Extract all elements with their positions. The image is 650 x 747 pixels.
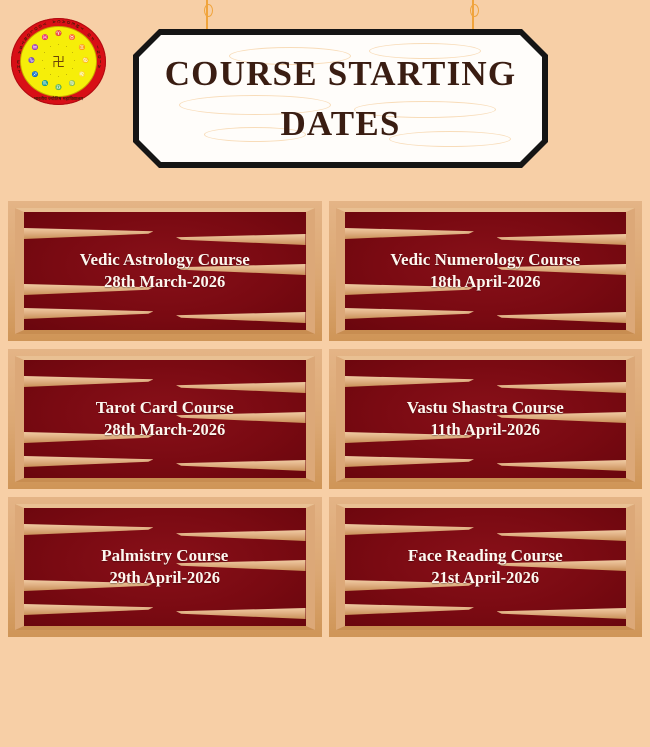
plank-wedge-left xyxy=(345,308,474,319)
chart-tick-icon: · xyxy=(71,58,78,65)
course-card-face: Tarot Card Course 28th March-2026 xyxy=(24,360,306,478)
course-date: 28th March-2026 xyxy=(104,272,225,293)
course-card-frame: Face Reading Course 21st April-2026 xyxy=(336,504,636,630)
plank-wedge-right xyxy=(176,312,305,323)
logo-ring-char xyxy=(46,20,51,22)
course-card[interactable]: Vastu Shastra Course 11th April-2026 xyxy=(329,349,643,489)
course-card-grid: Vedic Astrology Course 28th March-2026 V… xyxy=(8,201,642,645)
course-title: Palmistry Course xyxy=(101,545,228,566)
plank-wedge-right xyxy=(497,608,626,619)
plank-wedge-left xyxy=(24,524,153,535)
course-card-frame: Palmistry Course 29th April-2026 xyxy=(15,504,315,630)
course-card-frame: Vedic Astrology Course 28th March-2026 xyxy=(15,208,315,334)
course-date: 18th April-2026 xyxy=(430,272,540,293)
zodiac-sign-icon: ♌ xyxy=(78,72,85,79)
page-title-line-1: COURSE STARTING xyxy=(165,49,517,99)
course-title: Vastu Shastra Course xyxy=(407,397,564,418)
zodiac-sign-icon: ♊ xyxy=(78,45,85,52)
plank-wedge-left xyxy=(345,228,474,239)
course-card[interactable]: Tarot Card Course 28th March-2026 xyxy=(8,349,322,489)
zodiac-sign-icon: ♉ xyxy=(69,35,76,42)
logo-bottom-text: भारतीय ज्योतिष महाविद्यालय xyxy=(11,96,106,102)
plank-wedge-left xyxy=(24,604,153,615)
zodiac-sign-icon: ♋ xyxy=(82,58,89,65)
logo-ring-char: I xyxy=(99,59,100,64)
plank-wedge-right xyxy=(497,312,626,323)
course-card-face: Palmistry Course 29th April-2026 xyxy=(24,508,306,626)
plank-wedge-right xyxy=(176,460,305,471)
zodiac-sign-icon: ♎ xyxy=(55,85,62,92)
course-title: Vedic Astrology Course xyxy=(80,249,250,270)
course-card-row: Palmistry Course 29th April-2026 Face Re… xyxy=(8,497,642,637)
chart-tick-icon: · xyxy=(69,50,76,57)
plank-wedge-left xyxy=(24,308,153,319)
course-date: 29th April-2026 xyxy=(110,568,220,589)
zodiac-sign-icon: ♒ xyxy=(32,45,39,52)
title-board: COURSE STARTING DATES xyxy=(133,29,548,168)
chart-tick-icon: · xyxy=(39,58,46,65)
chart-tick-icon: · xyxy=(55,42,62,49)
plank-wedge-right xyxy=(176,608,305,619)
zodiac-sign-icon: ♈ xyxy=(55,31,62,38)
course-title: Face Reading Course xyxy=(408,545,563,566)
course-title: Tarot Card Course xyxy=(96,397,234,418)
page-title: COURSE STARTING DATES xyxy=(147,49,535,148)
page-title-line-2: DATES xyxy=(165,99,517,149)
course-title: Vedic Numerology Course xyxy=(390,249,580,270)
plank-wedge-right xyxy=(176,530,305,541)
plank-wedge-right xyxy=(497,234,626,245)
chart-tick-icon: · xyxy=(47,44,54,51)
plank-wedge-right xyxy=(497,460,626,471)
course-card-face: Face Reading Course 21st April-2026 xyxy=(345,508,627,626)
plank-wedge-left xyxy=(345,376,474,387)
course-date: 21st April-2026 xyxy=(431,568,539,589)
zodiac-sign-icon: ♑ xyxy=(28,58,35,65)
plank-wedge-left xyxy=(24,456,153,467)
plank-wedge-left xyxy=(24,376,153,387)
plank-wedge-right xyxy=(176,234,305,245)
course-card-row: Tarot Card Course 28th March-2026 Vastu … xyxy=(8,349,642,489)
zodiac-sign-icon: ♏ xyxy=(42,81,49,88)
course-card-frame: Vedic Numerology Course 18th April-2026 xyxy=(336,208,636,334)
plank-wedge-left xyxy=(24,228,153,239)
course-card[interactable]: Palmistry Course 29th April-2026 xyxy=(8,497,322,637)
course-date: 28th March-2026 xyxy=(104,420,225,441)
chart-tick-icon: · xyxy=(55,74,62,81)
zodiac-sign-icon: ♓ xyxy=(42,35,49,42)
plank-wedge-right xyxy=(497,530,626,541)
academy-logo: THE ASTROLOGY ACADEMY OF INDIA ♈♉♊♋♌♍♎♏♐… xyxy=(11,18,106,105)
course-card-face: Vastu Shastra Course 11th April-2026 xyxy=(345,360,627,478)
hook-eye-icon xyxy=(204,4,213,17)
zodiac-sign-icon: ♍ xyxy=(69,81,76,88)
plank-wedge-left xyxy=(345,524,474,535)
plank-wedge-right xyxy=(176,382,305,393)
course-card[interactable]: Vedic Numerology Course 18th April-2026 xyxy=(329,201,643,341)
logo-inner-disc: ♈♉♊♋♌♍♎♏♐♑♒♓············ 卍 xyxy=(20,26,97,97)
course-card-face: Vedic Numerology Course 18th April-2026 xyxy=(345,212,627,330)
course-card[interactable]: Face Reading Course 21st April-2026 xyxy=(329,497,643,637)
logo-ring-char: A xyxy=(97,63,101,68)
course-card[interactable]: Vedic Astrology Course 28th March-2026 xyxy=(8,201,322,341)
course-card-row: Vedic Astrology Course 28th March-2026 V… xyxy=(8,201,642,341)
title-board-face: COURSE STARTING DATES xyxy=(139,35,542,162)
course-card-face: Vedic Astrology Course 28th March-2026 xyxy=(24,212,306,330)
plank-wedge-left xyxy=(345,604,474,615)
course-date: 11th April-2026 xyxy=(430,420,540,441)
course-card-frame: Vastu Shastra Course 11th April-2026 xyxy=(336,356,636,482)
logo-ring-char: D xyxy=(97,54,100,59)
chart-tick-icon: · xyxy=(41,66,48,73)
plank-wedge-left xyxy=(345,456,474,467)
course-card-frame: Tarot Card Course 28th March-2026 xyxy=(15,356,315,482)
plank-wedge-right xyxy=(497,382,626,393)
chart-tick-icon: · xyxy=(63,72,70,79)
zodiac-sign-icon: ♐ xyxy=(32,72,39,79)
hook-eye-icon xyxy=(470,4,479,17)
swastika-icon: 卍 xyxy=(52,55,65,68)
